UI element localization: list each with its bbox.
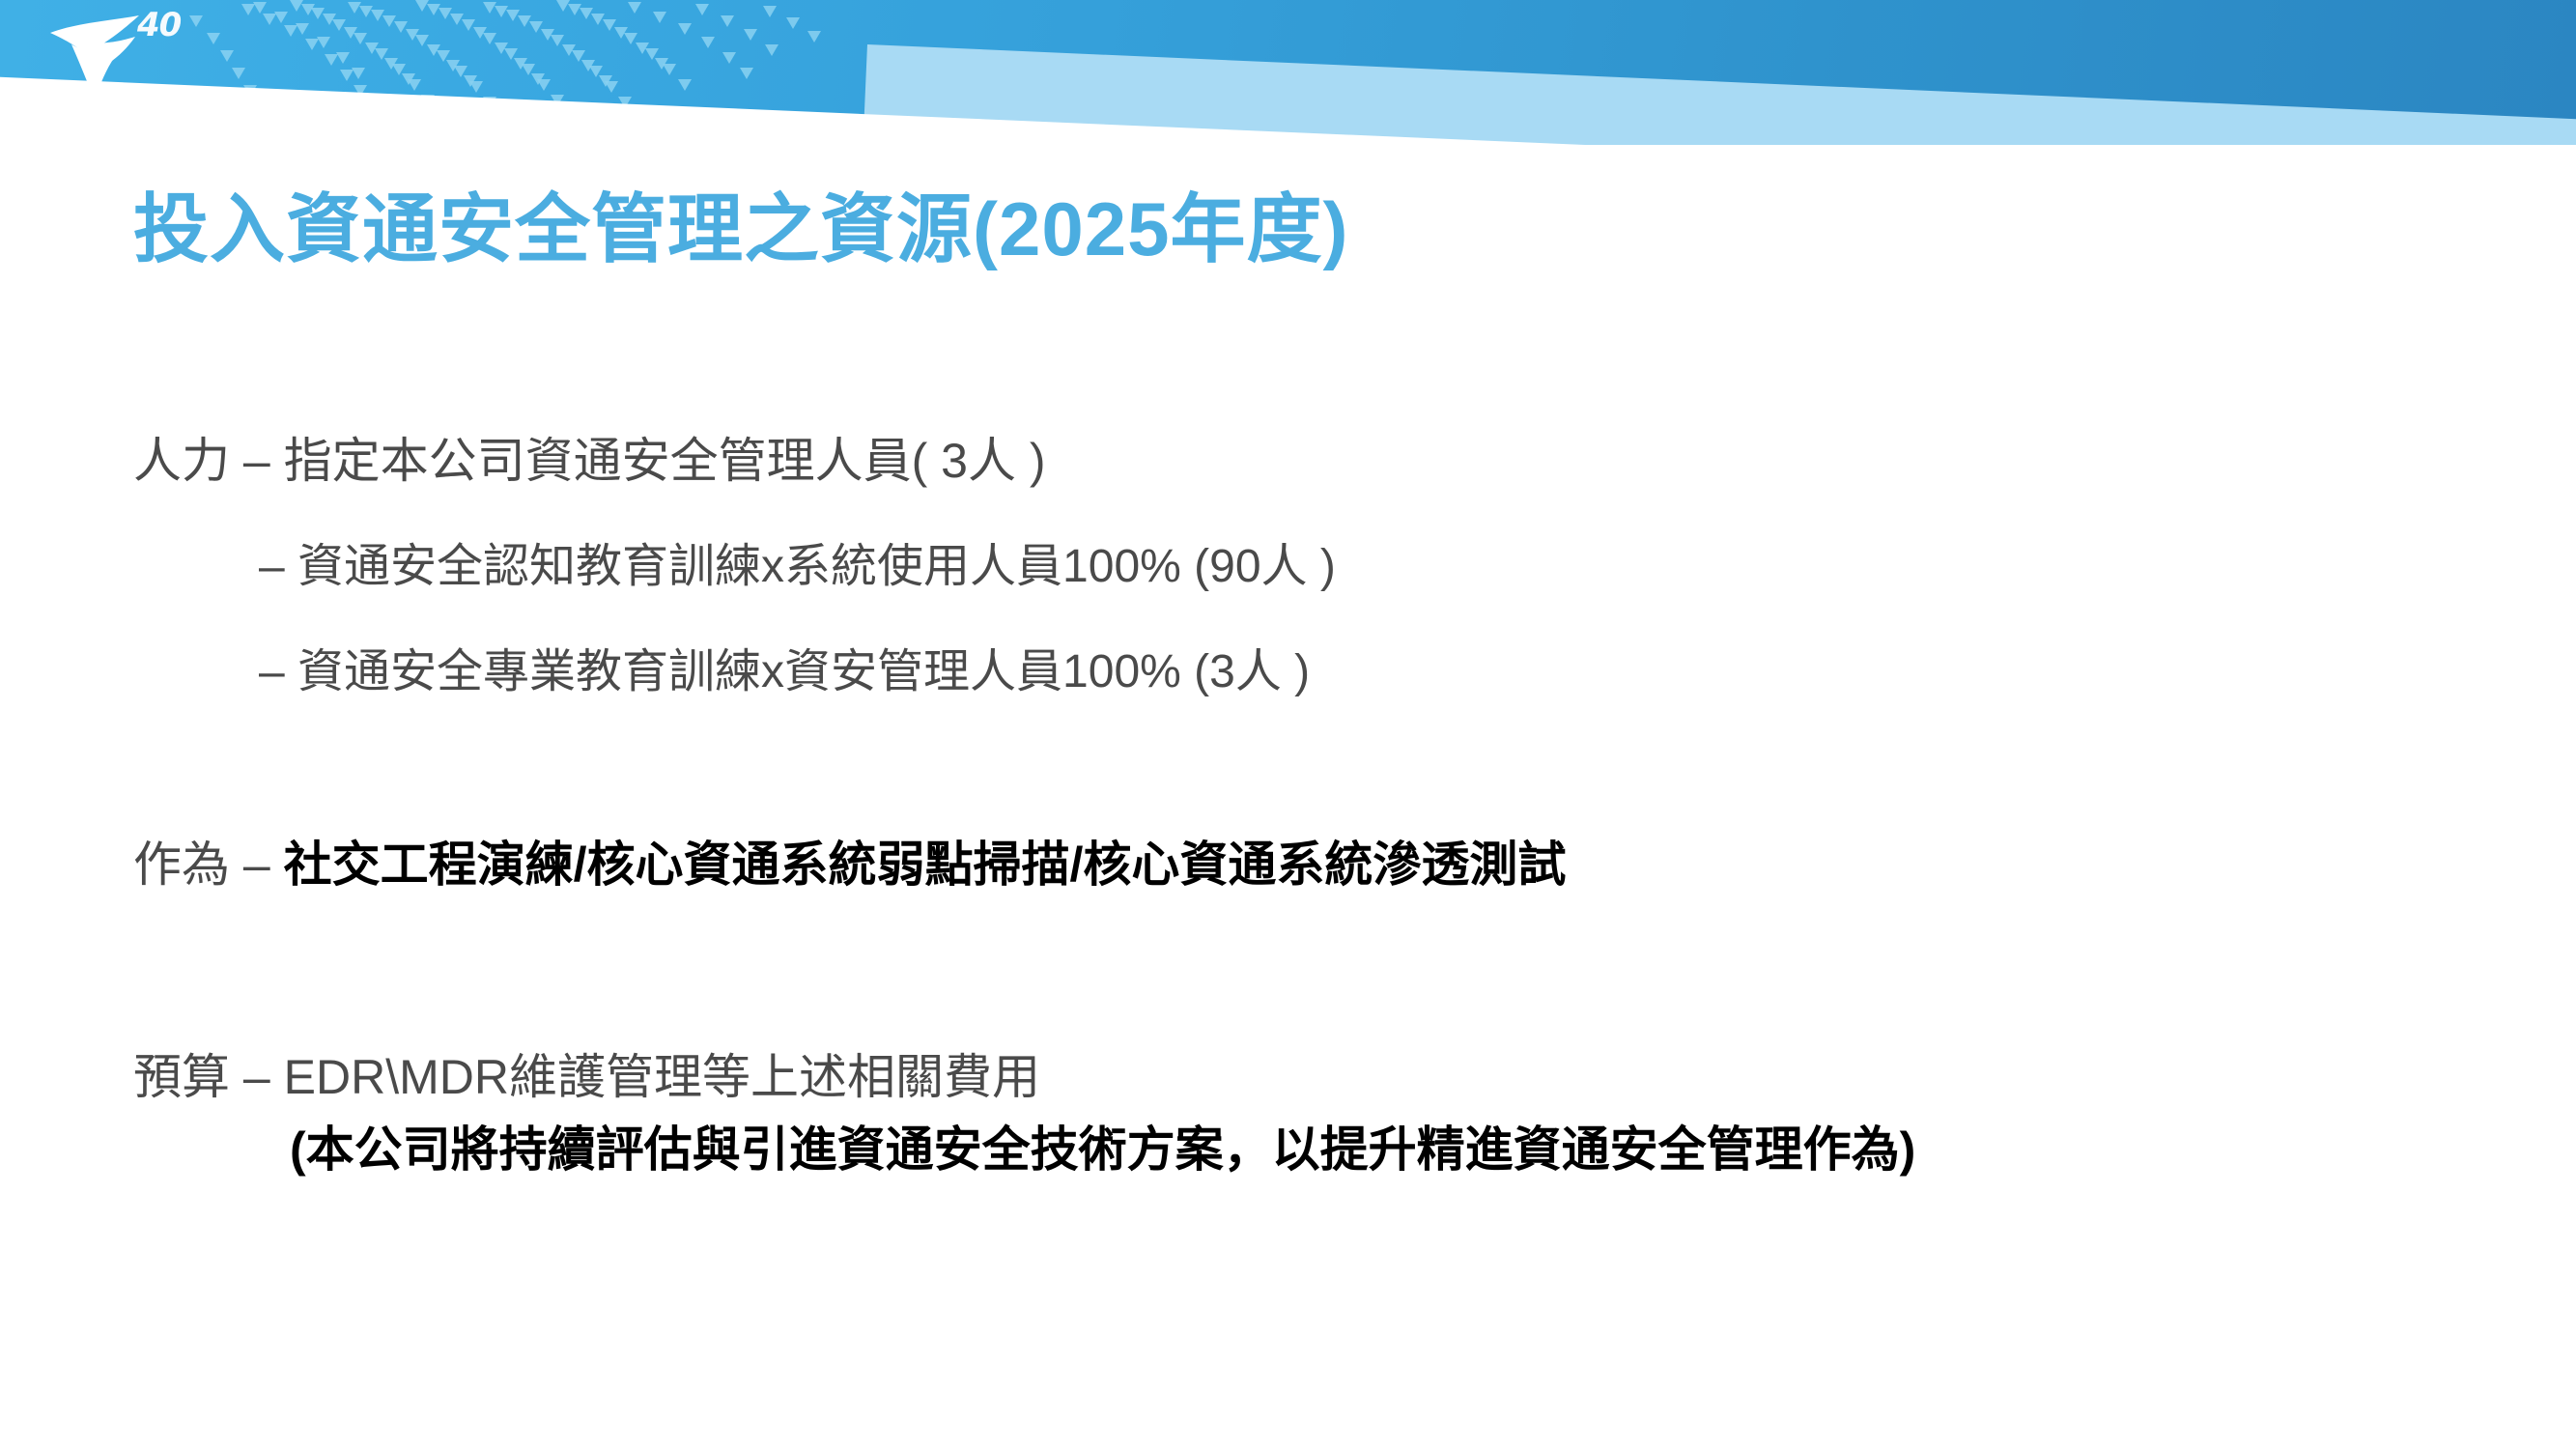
manpower-text: 指定本公司資通安全管理人員( 3人 ): [284, 434, 1046, 488]
budget-text: EDR\MDR維護管理等上述相關費用: [284, 1050, 1040, 1104]
actions-label: 作為: [133, 838, 230, 892]
budget-note: (本公司將持續評估與引進資通安全技術方案，以提升精進資通安全管理作為): [290, 1111, 1915, 1180]
bullet-training-professional: – 資通安全專業教育訓練x資安管理人員100% (3人 ): [259, 633, 1310, 700]
actions-text: 社交工程演練/核心資通系統弱點掃描/核心資通系統滲透測試: [284, 838, 1567, 892]
bullet-training-awareness: – 資通安全認知教育訓練x系統使用人員100% (90人 ): [259, 527, 1336, 595]
budget-dash: –: [243, 1050, 270, 1104]
training-awareness-text: 資通安全認知教育訓練x系統使用人員100% (90人 ): [297, 541, 1336, 592]
actions-dash: –: [243, 838, 270, 892]
training-professional-text: 資通安全專業教育訓練x資安管理人員100% (3人 ): [297, 646, 1310, 697]
training-awareness-dash: –: [259, 541, 285, 592]
bullet-budget: 預算 – EDR\MDR維護管理等上述相關費用: [133, 1038, 1040, 1108]
manpower-label: 人力: [133, 434, 230, 488]
slide: 40 投入資通安全管理之資源(2025年度) 人力 – 指定本公司資通安全管理人…: [0, 0, 2576, 1449]
bullet-actions: 作為 – 社交工程演練/核心資通系統弱點掃描/核心資通系統滲透測試: [133, 826, 1566, 895]
logo-anniversary-badge: 40: [137, 6, 181, 44]
slide-body: 人力 – 指定本公司資通安全管理人員( 3人 ) – 資通安全認知教育訓練x系統…: [0, 0, 2576, 1449]
company-logo: 40: [46, 4, 191, 105]
training-professional-dash: –: [259, 646, 285, 697]
budget-label: 預算: [133, 1050, 230, 1104]
manpower-dash: –: [243, 434, 270, 488]
bullet-manpower: 人力 – 指定本公司資通安全管理人員( 3人 ): [133, 422, 1046, 492]
